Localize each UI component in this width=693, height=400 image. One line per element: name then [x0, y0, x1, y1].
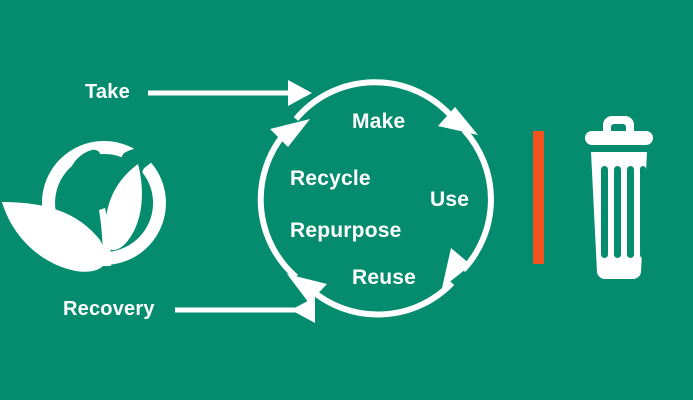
cycle-label-repurpose: Repurpose — [290, 220, 402, 241]
orange-bar — [533, 131, 544, 264]
flow-label-recovery: Recovery — [63, 299, 155, 319]
flow-label-take: Take — [85, 82, 130, 102]
circular-economy-diagram: Make Use Reuse Repurpose Recycle Take Re… — [0, 0, 693, 400]
recovery-flow-arrow — [175, 297, 315, 323]
cycle-label-reuse: Reuse — [352, 267, 416, 288]
cycle-arrowhead-bottom-right — [442, 248, 471, 288]
globe-leaf-icon — [2, 141, 166, 272]
cycle-label-recycle: Recycle — [290, 168, 371, 189]
trash-can-icon — [585, 116, 653, 279]
diagram-graphics — [0, 0, 693, 400]
cycle-label-use: Use — [430, 189, 469, 210]
take-flow-arrow — [148, 80, 312, 106]
cycle-label-make: Make — [352, 111, 405, 132]
